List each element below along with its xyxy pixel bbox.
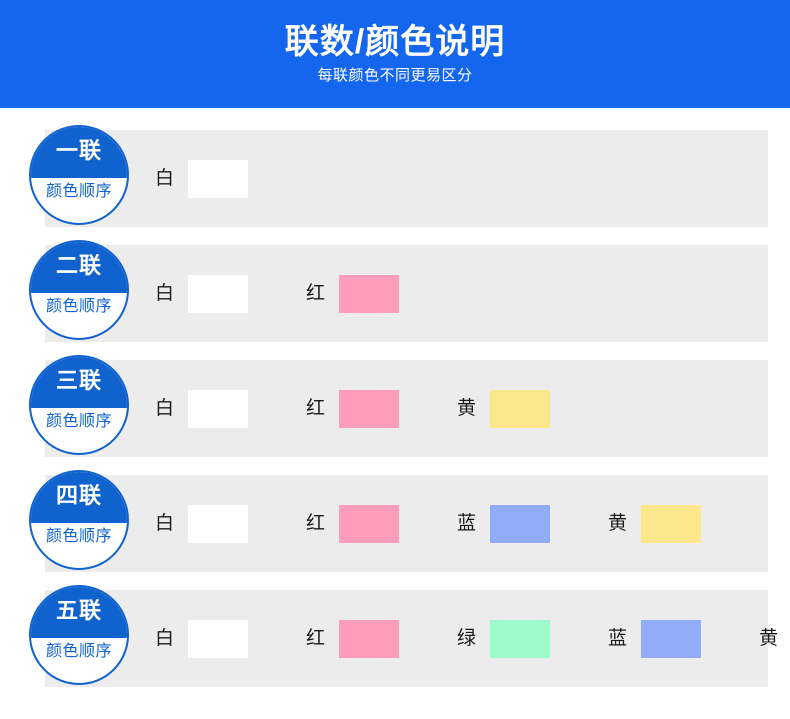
page-header: 联数/颜色说明 每联颜色不同更易区分: [0, 0, 790, 108]
copy-count-row: 三联颜色顺序白红黄: [0, 360, 790, 457]
color-swatch-item: 红: [306, 275, 399, 313]
color-chip: [188, 390, 248, 428]
color-swatch-item: 黄: [457, 390, 550, 428]
color-name-label: 白: [155, 628, 174, 650]
badge-top-half: 四联: [31, 472, 127, 523]
color-sequence: 白: [155, 130, 248, 227]
color-sequence: 白红绿蓝黄: [155, 590, 790, 687]
color-name-label: 黄: [457, 398, 476, 420]
color-chip: [490, 390, 550, 428]
color-chip: [641, 505, 701, 543]
badge-copy-count-label: 五联: [56, 599, 102, 625]
color-name-label: 红: [306, 283, 325, 305]
badge-top-half: 五联: [31, 587, 127, 638]
color-swatch-item: 红: [306, 620, 399, 658]
badge-copy-count-label: 三联: [56, 369, 102, 395]
page-subtitle: 每联颜色不同更易区分: [317, 66, 472, 86]
copy-count-badge: 三联颜色顺序: [29, 355, 129, 455]
color-name-label: 黄: [608, 513, 627, 535]
color-name-label: 白: [155, 398, 174, 420]
copy-count-row: 二联颜色顺序白红: [0, 245, 790, 342]
color-name-label: 黄: [759, 628, 778, 650]
copy-count-row: 五联颜色顺序白红绿蓝黄: [0, 590, 790, 687]
color-sequence: 白红黄: [155, 360, 550, 457]
color-swatch-item: 白: [155, 160, 248, 198]
color-chip: [188, 620, 248, 658]
row-background-band: [45, 130, 768, 227]
badge-bottom-half: 颜色顺序: [31, 408, 127, 453]
color-swatch-item: 蓝: [457, 505, 550, 543]
badge-color-order-label: 颜色顺序: [46, 527, 112, 547]
copy-count-badge: 一联颜色顺序: [29, 125, 129, 225]
copy-count-row: 一联颜色顺序白: [0, 130, 790, 227]
color-sequence: 白红: [155, 245, 399, 342]
copy-count-badge: 五联颜色顺序: [29, 585, 129, 685]
badge-copy-count-label: 一联: [56, 139, 102, 165]
color-name-label: 红: [306, 398, 325, 420]
row-background-band: [45, 245, 768, 342]
color-swatch-item: 黄: [759, 620, 790, 658]
color-name-label: 红: [306, 513, 325, 535]
badge-color-order-label: 颜色顺序: [46, 642, 112, 662]
color-swatch-item: 白: [155, 390, 248, 428]
color-swatch-item: 白: [155, 620, 248, 658]
badge-top-half: 一联: [31, 127, 127, 178]
color-swatch-item: 白: [155, 505, 248, 543]
badge-top-half: 二联: [31, 242, 127, 293]
color-chip: [339, 620, 399, 658]
copy-count-badge: 四联颜色顺序: [29, 470, 129, 570]
copy-count-row: 四联颜色顺序白红蓝黄: [0, 475, 790, 572]
badge-color-order-label: 颜色顺序: [46, 412, 112, 432]
color-chip: [490, 505, 550, 543]
color-name-label: 蓝: [457, 513, 476, 535]
badge-bottom-half: 颜色顺序: [31, 638, 127, 683]
color-swatch-item: 蓝: [608, 620, 701, 658]
color-name-label: 白: [155, 168, 174, 190]
color-swatch-item: 红: [306, 390, 399, 428]
badge-top-half: 三联: [31, 357, 127, 408]
color-chip: [339, 275, 399, 313]
color-swatch-item: 黄: [608, 505, 701, 543]
badge-bottom-half: 颜色顺序: [31, 293, 127, 338]
color-chip: [339, 390, 399, 428]
copy-count-badge: 二联颜色顺序: [29, 240, 129, 340]
color-name-label: 白: [155, 283, 174, 305]
color-chip: [188, 160, 248, 198]
color-chip: [339, 505, 399, 543]
color-chip: [188, 505, 248, 543]
badge-bottom-half: 颜色顺序: [31, 178, 127, 223]
color-name-label: 红: [306, 628, 325, 650]
page-title: 联数/颜色说明: [285, 22, 505, 62]
copy-count-row-list: 一联颜色顺序白二联颜色顺序白红三联颜色顺序白红黄四联颜色顺序白红蓝黄五联颜色顺序…: [0, 108, 790, 719]
color-name-label: 绿: [457, 628, 476, 650]
color-swatch-item: 红: [306, 505, 399, 543]
color-swatch-item: 白: [155, 275, 248, 313]
badge-copy-count-label: 四联: [56, 484, 102, 510]
badge-bottom-half: 颜色顺序: [31, 523, 127, 568]
color-chip: [188, 275, 248, 313]
color-chip: [641, 620, 701, 658]
color-swatch-item: 绿: [457, 620, 550, 658]
badge-copy-count-label: 二联: [56, 254, 102, 280]
color-name-label: 白: [155, 513, 174, 535]
badge-color-order-label: 颜色顺序: [46, 297, 112, 317]
color-chip: [490, 620, 550, 658]
color-name-label: 蓝: [608, 628, 627, 650]
color-sequence: 白红蓝黄: [155, 475, 701, 572]
badge-color-order-label: 颜色顺序: [46, 182, 112, 202]
